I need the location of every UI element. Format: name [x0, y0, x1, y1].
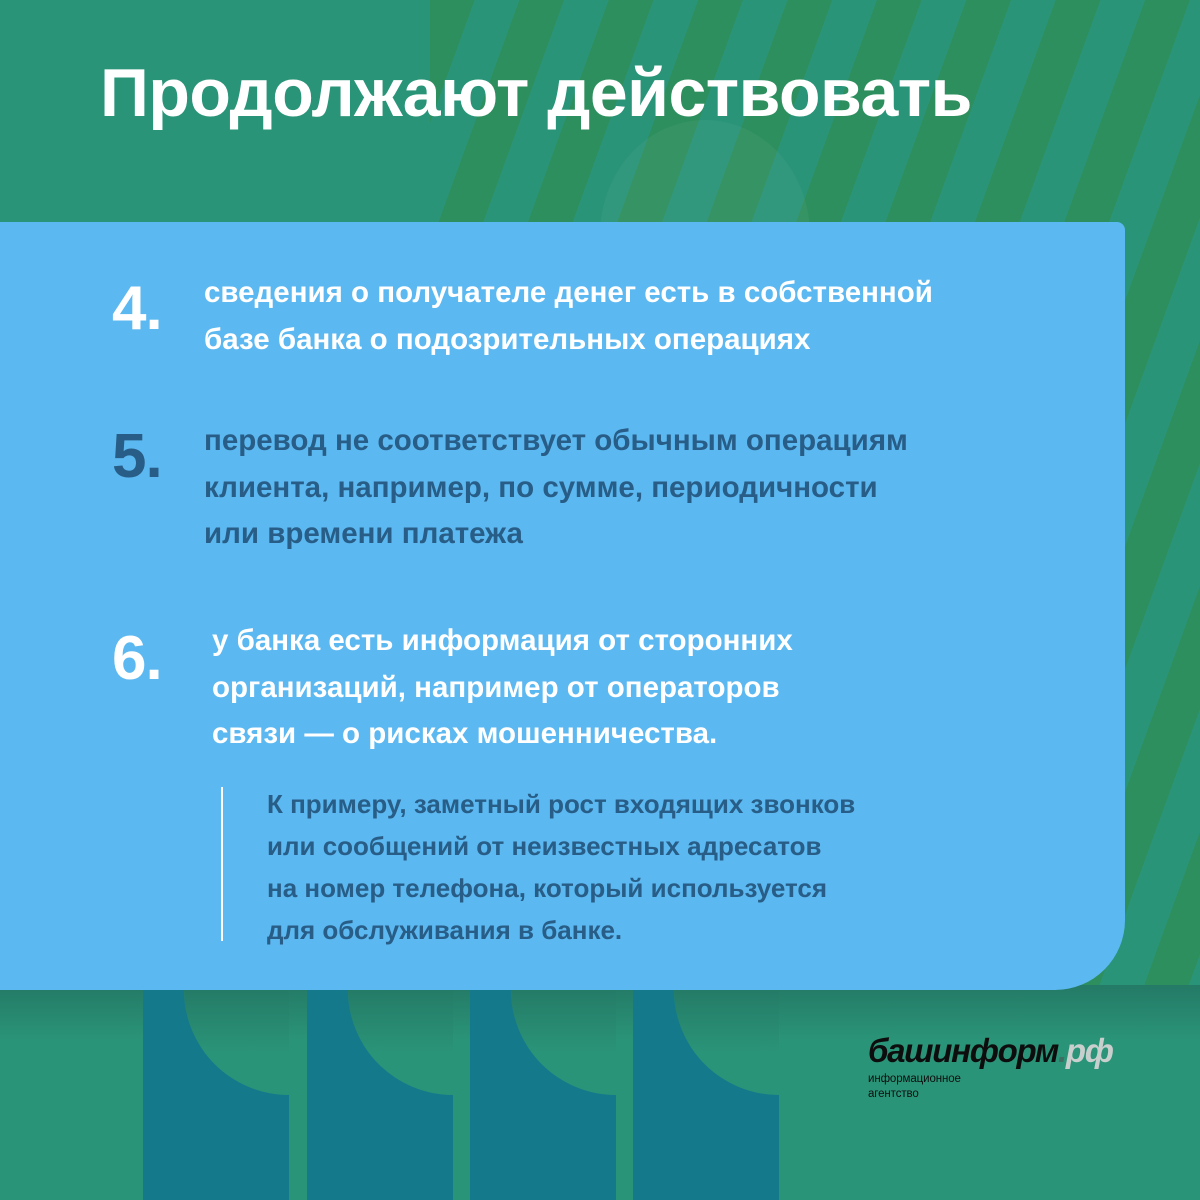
list-item-6: 6. у банка есть информация от сторонних …	[112, 618, 793, 758]
list-item-line: клиента, например, по сумме, периодичнос…	[204, 465, 908, 512]
note-line: К примеру, заметный рост входящих звонко…	[267, 783, 855, 825]
arch-notch	[674, 990, 779, 1095]
list-item-line: у банка есть информация от сторонних	[212, 618, 793, 665]
logo-wordmark: башинформ.рф	[868, 1034, 1118, 1067]
decorative-arch-2	[307, 990, 453, 1200]
list-item-text: сведения о получателе денег есть в собст…	[204, 270, 933, 363]
note-line: на номер телефона, который используется	[267, 867, 855, 909]
note-text: К примеру, заметный рост входящих звонко…	[223, 783, 855, 951]
logo-subtitle-line: информационное	[868, 1072, 1118, 1087]
list-item-5: 5. перевод не соответствует обычным опер…	[112, 418, 908, 558]
decorative-arch-4	[633, 990, 779, 1200]
arch-notch	[511, 990, 616, 1095]
list-item-line: связи — о рисках мошенничества.	[212, 711, 793, 758]
list-item-line: базе банка о подозрительных операциях	[204, 317, 933, 364]
list-item-line: организаций, например от операторов	[212, 665, 793, 712]
note-line: или сообщений от неизвестных адресатов	[267, 825, 855, 867]
arch-notch	[184, 990, 289, 1095]
page-title: Продолжают действовать	[100, 58, 972, 129]
logo-name: башинформ	[868, 1032, 1058, 1069]
arch-notch	[348, 990, 453, 1095]
list-item-text: перевод не соответствует обычным операци…	[204, 418, 908, 558]
list-item-number: 5.	[112, 418, 204, 488]
note-line: для обслуживания в банке.	[267, 909, 855, 951]
logo-tld: рф	[1066, 1032, 1113, 1069]
list-item-line: перевод не соответствует обычным операци…	[204, 418, 908, 465]
brand-logo: башинформ.рф информационное агентство	[868, 1034, 1118, 1102]
list-item-number: 4.	[112, 270, 204, 340]
list-item-line: или времени платежа	[204, 511, 908, 558]
note-block: К примеру, заметный рост входящих звонко…	[221, 783, 855, 951]
logo-subtitle: информационное агентство	[868, 1072, 1118, 1102]
decorative-arch-3	[470, 990, 616, 1200]
logo-dot: .	[1058, 1032, 1066, 1069]
list-item-4: 4. сведения о получателе денег есть в со…	[112, 270, 933, 363]
logo-subtitle-line: агентство	[868, 1087, 1118, 1102]
decorative-arch-1	[143, 990, 289, 1200]
list-item-number: 6.	[112, 618, 204, 690]
list-item-text: у банка есть информация от сторонних орг…	[204, 618, 793, 758]
infographic-canvas: Продолжают действовать 4. сведения о пол…	[0, 0, 1200, 1200]
list-item-line: сведения о получателе денег есть в собст…	[204, 270, 933, 317]
